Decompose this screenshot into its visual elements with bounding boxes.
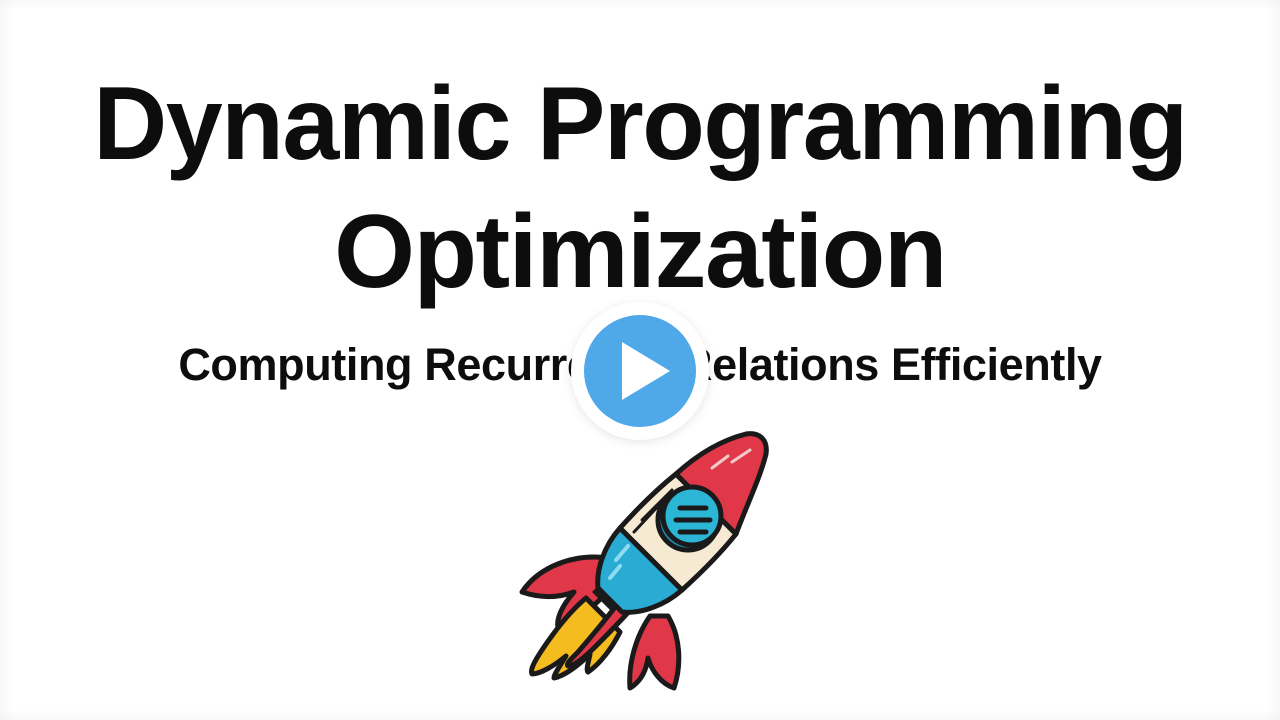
title-line-2: Optimization	[50, 188, 1230, 316]
page-title: Dynamic Programming Optimization	[0, 60, 1280, 316]
rocket-icon	[500, 420, 800, 710]
title-line-1: Dynamic Programming	[59, 60, 1221, 188]
play-button-disc	[584, 315, 696, 427]
video-title-card: Dynamic Programming Optimization Computi…	[0, 0, 1280, 720]
play-icon	[622, 342, 670, 400]
